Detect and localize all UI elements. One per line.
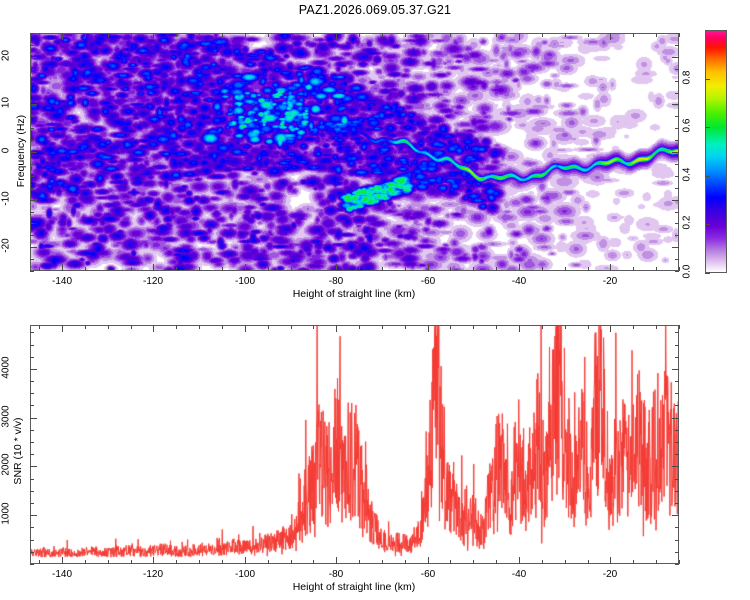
x-minor-tick-top (85, 33, 86, 37)
x-minor-tick-top (268, 325, 269, 329)
x-major-tick (428, 264, 429, 271)
x-minor-tick (291, 560, 292, 564)
page-title: PAZ1.2026.069.05.37.G21 (0, 3, 750, 17)
x-major-tick-top (153, 33, 154, 40)
y-tick-label: 20 (1, 36, 12, 76)
x-major-tick-top (428, 33, 429, 40)
x-minor-tick (199, 267, 200, 271)
y-minor-tick (30, 271, 34, 272)
x-minor-tick (405, 267, 406, 271)
y-minor-tick (30, 223, 34, 224)
y-minor-tick-right (675, 442, 679, 443)
y-minor-tick (30, 212, 34, 213)
x-tick-label: -20 (588, 276, 632, 287)
x-minor-tick-top (131, 325, 132, 329)
x-minor-tick-top (450, 33, 451, 37)
y-minor-tick (30, 69, 34, 70)
x-minor-tick (473, 560, 474, 564)
x-minor-tick (108, 267, 109, 271)
x-minor-tick-top (222, 33, 223, 37)
x-minor-tick-top (588, 33, 589, 37)
y-minor-tick (30, 93, 34, 94)
x-tick-label: -80 (314, 276, 358, 287)
y-major-tick (30, 152, 37, 153)
y-minor-tick (30, 235, 34, 236)
y-minor-tick-right (675, 69, 679, 70)
y-minor-tick (30, 381, 34, 382)
x-tick-label: -20 (588, 569, 632, 580)
y-tick-label: -10 (1, 179, 12, 219)
x-minor-tick (313, 560, 314, 564)
y-minor-tick (30, 81, 34, 82)
y-minor-tick (30, 259, 34, 260)
x-minor-tick-top (313, 325, 314, 329)
x-major-tick-top (428, 325, 429, 332)
x-tick-label: -120 (131, 569, 175, 580)
y-major-tick (30, 247, 37, 248)
y-minor-tick-right (675, 552, 679, 553)
x-minor-tick (450, 267, 451, 271)
y-major-tick-right (672, 57, 679, 58)
x-minor-tick (222, 267, 223, 271)
spectrogram-image (31, 34, 678, 270)
y-tick-label: 1000 (1, 494, 12, 534)
x-major-tick-top (336, 33, 337, 40)
x-minor-tick-top (222, 325, 223, 329)
x-minor-tick (313, 267, 314, 271)
x-major-tick-top (245, 33, 246, 40)
y-minor-tick (30, 176, 34, 177)
y-minor-tick-right (675, 271, 679, 272)
x-minor-tick-top (39, 325, 40, 329)
x-tick-label: -120 (131, 276, 175, 287)
y-minor-tick-right (675, 33, 679, 34)
colorbar-gradient (706, 31, 726, 272)
x-minor-tick-top (633, 325, 634, 329)
y-minor-tick (30, 552, 34, 553)
x-minor-tick-top (199, 325, 200, 329)
y-minor-tick (30, 479, 34, 480)
x-minor-tick (542, 267, 543, 271)
x-minor-tick-top (199, 33, 200, 37)
x-tick-label: -100 (223, 276, 267, 287)
x-minor-tick-top (359, 33, 360, 37)
colorbar-tick (705, 273, 710, 274)
colorbar-tick (705, 224, 710, 225)
colorbar-tick-label: 0.2 (682, 203, 693, 243)
x-minor-tick (633, 560, 634, 564)
x-major-tick-top (62, 325, 63, 332)
y-minor-tick (30, 128, 34, 129)
x-minor-tick (268, 267, 269, 271)
x-minor-tick-top (679, 325, 680, 329)
y-minor-tick-right (675, 223, 679, 224)
y-minor-tick (30, 140, 34, 141)
y-major-tick-right (672, 418, 679, 419)
x-minor-tick (108, 560, 109, 564)
y-major-tick (30, 200, 37, 201)
x-tick-label: -80 (314, 569, 358, 580)
y-minor-tick (30, 454, 34, 455)
x-minor-tick (382, 560, 383, 564)
x-minor-tick-top (85, 325, 86, 329)
x-minor-tick-top (313, 33, 314, 37)
y-minor-tick (30, 164, 34, 165)
y-minor-tick-right (675, 140, 679, 141)
y-tick-label: 4000 (1, 348, 12, 388)
x-minor-tick (496, 560, 497, 564)
y-minor-tick-right (675, 503, 679, 504)
x-minor-tick-top (588, 325, 589, 329)
figure-root: PAZ1.2026.069.05.37.G21 -140-120-100-80-… (0, 0, 750, 600)
colorbar-tick-label: 0.0 (682, 252, 693, 292)
y-major-tick (30, 515, 37, 516)
y-minor-tick (30, 357, 34, 358)
y-minor-tick-right (675, 357, 679, 358)
x-minor-tick-top (176, 325, 177, 329)
y-minor-tick-right (675, 430, 679, 431)
x-minor-tick (222, 560, 223, 564)
y-tick-label: 0 (1, 131, 12, 171)
snr-y-axis-label: SNR (10 * v/v) (12, 386, 24, 516)
x-major-tick (245, 557, 246, 564)
x-minor-tick (565, 560, 566, 564)
x-minor-tick-top (656, 325, 657, 329)
y-minor-tick-right (675, 259, 679, 260)
colorbar-tick (705, 127, 710, 128)
x-major-tick (519, 264, 520, 271)
x-minor-tick (382, 267, 383, 271)
snr-x-axis-label: Height of straight line (km) (204, 581, 504, 593)
x-major-tick-top (62, 33, 63, 40)
y-tick-label: 10 (1, 83, 12, 123)
x-minor-tick (656, 560, 657, 564)
y-minor-tick-right (675, 45, 679, 46)
x-minor-tick-top (565, 325, 566, 329)
x-major-tick (519, 557, 520, 564)
y-major-tick (30, 369, 37, 370)
x-major-tick-top (610, 33, 611, 40)
y-minor-tick-right (675, 454, 679, 455)
x-major-tick-top (245, 325, 246, 332)
y-minor-tick-right (675, 405, 679, 406)
x-tick-label: -140 (40, 569, 84, 580)
x-major-tick-top (610, 325, 611, 332)
colorbar-tick-label: 0.6 (682, 106, 693, 146)
x-minor-tick-top (473, 325, 474, 329)
y-minor-tick-right (675, 176, 679, 177)
x-minor-tick (496, 267, 497, 271)
x-tick-label: -60 (406, 569, 450, 580)
x-minor-tick-top (633, 33, 634, 37)
y-minor-tick (30, 33, 34, 34)
snr-trace-plot (31, 326, 678, 563)
colorbar (705, 30, 727, 273)
y-minor-tick-right (675, 128, 679, 129)
y-major-tick (30, 466, 37, 467)
colorbar-tick-label: 0.8 (682, 58, 693, 98)
y-minor-tick (30, 564, 34, 565)
x-minor-tick-top (382, 33, 383, 37)
x-minor-tick-top (496, 325, 497, 329)
x-major-tick (153, 264, 154, 271)
x-minor-tick (450, 560, 451, 564)
x-minor-tick (542, 560, 543, 564)
x-minor-tick (633, 267, 634, 271)
y-minor-tick-right (675, 345, 679, 346)
x-major-tick (62, 264, 63, 271)
y-minor-tick-right (675, 381, 679, 382)
y-minor-tick (30, 45, 34, 46)
x-major-tick (62, 557, 63, 564)
x-minor-tick-top (131, 33, 132, 37)
x-major-tick (336, 264, 337, 271)
x-minor-tick (131, 560, 132, 564)
y-minor-tick (30, 116, 34, 117)
y-minor-tick (30, 430, 34, 431)
y-minor-tick (30, 405, 34, 406)
y-minor-tick-right (675, 564, 679, 565)
x-major-tick-top (153, 325, 154, 332)
y-major-tick-right (672, 152, 679, 153)
y-minor-tick-right (675, 332, 679, 333)
x-major-tick (153, 557, 154, 564)
y-minor-tick-right (675, 116, 679, 117)
x-major-tick-top (336, 325, 337, 332)
y-minor-tick-right (675, 81, 679, 82)
spectrogram-x-axis-label: Height of straight line (km) (204, 288, 504, 300)
x-minor-tick-top (656, 33, 657, 37)
x-minor-tick (656, 267, 657, 271)
x-minor-tick (85, 267, 86, 271)
y-minor-tick-right (675, 479, 679, 480)
x-minor-tick (39, 267, 40, 271)
y-minor-tick-right (675, 212, 679, 213)
y-minor-tick-right (675, 540, 679, 541)
y-minor-tick (30, 332, 34, 333)
y-major-tick (30, 418, 37, 419)
x-minor-tick-top (405, 33, 406, 37)
x-minor-tick (679, 267, 680, 271)
x-minor-tick (565, 267, 566, 271)
y-minor-tick-right (675, 491, 679, 492)
y-minor-tick (30, 491, 34, 492)
colorbar-tick (705, 176, 710, 177)
y-tick-label: -20 (1, 226, 12, 266)
x-tick-label: -40 (497, 276, 541, 287)
x-minor-tick (39, 560, 40, 564)
x-minor-tick-top (473, 33, 474, 37)
y-minor-tick (30, 503, 34, 504)
y-minor-tick-right (675, 235, 679, 236)
x-minor-tick (359, 267, 360, 271)
x-minor-tick (268, 560, 269, 564)
x-tick-label: -40 (497, 569, 541, 580)
y-minor-tick (30, 442, 34, 443)
x-minor-tick (473, 267, 474, 271)
x-minor-tick-top (382, 325, 383, 329)
y-tick-label: 2000 (1, 445, 12, 485)
y-major-tick-right (672, 200, 679, 201)
y-minor-tick (30, 188, 34, 189)
y-minor-tick (30, 527, 34, 528)
y-minor-tick (30, 540, 34, 541)
y-minor-tick (30, 345, 34, 346)
x-minor-tick-top (542, 325, 543, 329)
x-major-tick (610, 264, 611, 271)
x-minor-tick (359, 560, 360, 564)
spectrogram-y-axis-label: Frequency (Hz) (15, 91, 27, 211)
y-major-tick (30, 104, 37, 105)
x-minor-tick-top (679, 33, 680, 37)
x-tick-label: -60 (406, 276, 450, 287)
x-minor-tick (679, 560, 680, 564)
x-major-tick (610, 557, 611, 564)
x-minor-tick-top (39, 33, 40, 37)
x-minor-tick (291, 267, 292, 271)
x-minor-tick (199, 560, 200, 564)
x-minor-tick (176, 267, 177, 271)
x-major-tick (428, 557, 429, 564)
y-major-tick (30, 57, 37, 58)
y-major-tick-right (672, 466, 679, 467)
x-minor-tick-top (565, 33, 566, 37)
y-minor-tick (30, 393, 34, 394)
x-minor-tick (588, 560, 589, 564)
x-minor-tick-top (291, 325, 292, 329)
x-minor-tick (176, 560, 177, 564)
y-minor-tick-right (675, 164, 679, 165)
x-major-tick (245, 264, 246, 271)
x-minor-tick-top (291, 33, 292, 37)
spectrogram-panel (30, 33, 679, 271)
y-minor-tick-right (675, 393, 679, 394)
y-major-tick-right (672, 369, 679, 370)
x-minor-tick (131, 267, 132, 271)
y-major-tick-right (672, 247, 679, 248)
x-major-tick-top (519, 33, 520, 40)
x-minor-tick-top (450, 325, 451, 329)
x-minor-tick-top (268, 33, 269, 37)
x-tick-label: -100 (223, 569, 267, 580)
x-tick-label: -140 (40, 276, 84, 287)
y-tick-label: 3000 (1, 397, 12, 437)
y-major-tick-right (672, 515, 679, 516)
x-minor-tick (85, 560, 86, 564)
x-major-tick (336, 557, 337, 564)
y-minor-tick-right (675, 527, 679, 528)
x-major-tick-top (519, 325, 520, 332)
y-minor-tick-right (675, 188, 679, 189)
x-minor-tick (588, 267, 589, 271)
x-minor-tick-top (359, 325, 360, 329)
x-minor-tick-top (496, 33, 497, 37)
x-minor-tick-top (108, 325, 109, 329)
colorbar-tick-label: 0.4 (682, 155, 693, 195)
x-minor-tick (405, 560, 406, 564)
x-minor-tick-top (176, 33, 177, 37)
x-minor-tick-top (405, 325, 406, 329)
x-minor-tick-top (542, 33, 543, 37)
y-major-tick-right (672, 104, 679, 105)
snr-panel (30, 325, 679, 564)
y-minor-tick-right (675, 93, 679, 94)
x-minor-tick-top (108, 33, 109, 37)
colorbar-tick (705, 79, 710, 80)
